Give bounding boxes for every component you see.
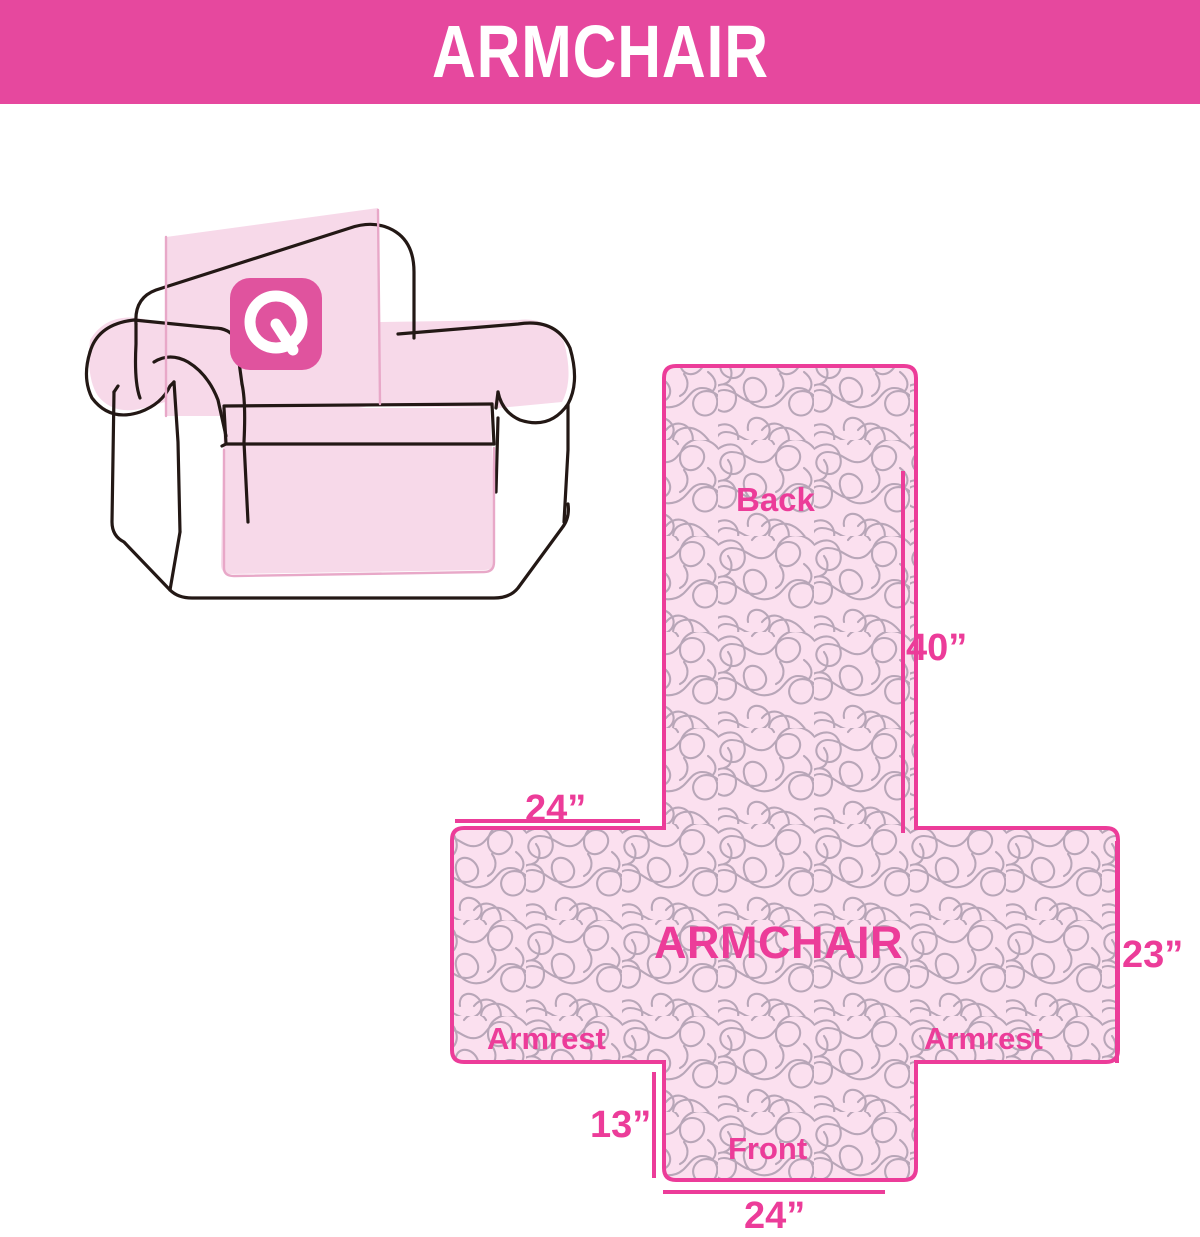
dimension-label-front-height: 13” — [590, 1106, 651, 1144]
pattern-center-label: ARMCHAIR — [654, 920, 903, 965]
header-banner: ARMCHAIR — [0, 0, 1200, 104]
section-label-front: Front — [728, 1133, 807, 1164]
dimension-label-back-height: 40” — [906, 629, 967, 667]
dimension-label-back-width: 24” — [525, 790, 586, 828]
section-label-armrest-right: Armrest — [924, 1023, 1043, 1054]
dimension-line-back-height — [901, 471, 905, 833]
page-title: ARMCHAIR — [432, 15, 769, 89]
section-label-armrest-left: Armrest — [487, 1023, 606, 1054]
q-logo-badge — [230, 278, 322, 370]
diagram-stage: 40” 24” 23” 13” 24” Back ARMCHAIR Armres… — [0, 104, 1200, 1200]
cover-pattern-shape — [430, 344, 1200, 1184]
dimension-line-front-height — [652, 1072, 656, 1178]
dimension-line-seat-depth — [1115, 841, 1119, 1063]
dimension-line-front-width — [663, 1190, 885, 1194]
section-label-back: Back — [736, 483, 815, 516]
dimension-label-seat-depth: 23” — [1122, 936, 1183, 974]
dimension-label-front-width: 24” — [744, 1197, 805, 1235]
